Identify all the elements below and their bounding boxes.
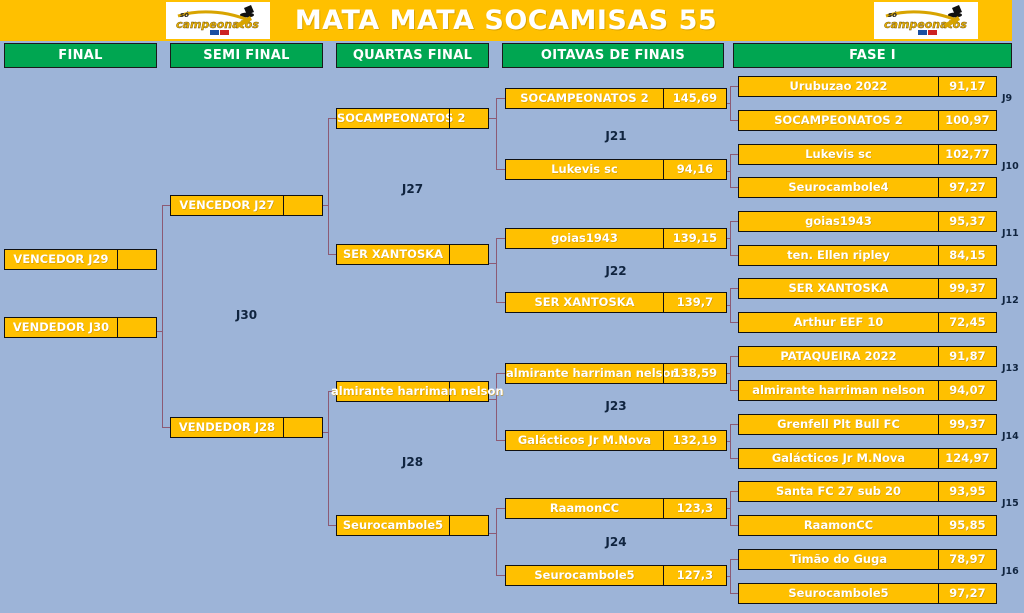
team-name: Seurocambole5 [337, 516, 449, 535]
team-name: SOCAMPEONATOS 2 [506, 89, 663, 108]
team-score: 93,95 [938, 482, 996, 501]
fase1-team-box[interactable]: SER XANTOSKA 99,37 [738, 278, 997, 299]
team-name: almirante harriman nelson [739, 381, 938, 400]
team-name: Timão do Guga [739, 550, 938, 569]
bracket-connector [496, 575, 505, 576]
team-name: PATAQUEIRA 2022 [739, 347, 938, 366]
so-campeonatos-logo-left: só campeonatos [166, 2, 270, 39]
match-id-j14: J14 [1002, 431, 1019, 442]
team-name: RaamonCC [506, 499, 663, 518]
team-name: VENDEDOR J30 [5, 318, 117, 337]
quartas-team-box[interactable]: almirante harriman nelson [336, 381, 489, 402]
bracket-connector [489, 118, 497, 119]
match-id-j23: J23 [505, 399, 727, 413]
team-score: 99,37 [938, 415, 996, 434]
round-tab-final[interactable]: FINAL [4, 43, 157, 68]
team-score: 97,27 [938, 584, 996, 603]
bracket-connector [496, 98, 505, 99]
team-score: 97,27 [938, 178, 996, 197]
bracket-connector [496, 169, 505, 170]
final-team-box[interactable]: VENCEDOR J29 [4, 249, 157, 270]
team-name: SER XANTOSKA [337, 245, 449, 264]
match-id-j12: J12 [1002, 295, 1019, 306]
bracket-connector [496, 238, 497, 303]
bracket-connector [162, 205, 163, 428]
semifinal-team-box[interactable]: VENDEDOR J28 [170, 417, 323, 438]
team-name: VENCEDOR J27 [171, 196, 283, 215]
team-name: Seurocambole4 [739, 178, 938, 197]
match-id-j10: J10 [1002, 161, 1019, 172]
fase1-team-box[interactable]: Santa FC 27 sub 20 93,95 [738, 481, 997, 502]
fase1-team-box[interactable]: PATAQUEIRA 2022 91,87 [738, 346, 997, 367]
team-score [449, 516, 488, 535]
final-team-box[interactable]: VENDEDOR J30 [4, 317, 157, 338]
team-name: SER XANTOSKA [739, 279, 938, 298]
team-name: Galácticos Jr M.Nova [739, 449, 938, 468]
team-name: Santa FC 27 sub 20 [739, 482, 938, 501]
team-score: 102,77 [938, 145, 996, 164]
fase1-team-box[interactable]: Galácticos Jr M.Nova 124,97 [738, 448, 997, 469]
team-name: Lukevis sc [506, 160, 663, 179]
team-name: goias1943 [739, 212, 938, 231]
team-name: almirante harriman nelson [506, 364, 663, 383]
match-id-j9: J9 [1002, 93, 1012, 104]
team-name: VENDEDOR J28 [171, 418, 283, 437]
fase1-team-box[interactable]: Timão do Guga 78,97 [738, 549, 997, 570]
match-id-j22: J22 [505, 264, 727, 278]
bracket-connector [322, 205, 329, 206]
quartas-team-box[interactable]: SOCAMPEONATOS 2 [336, 108, 489, 129]
fase1-team-box[interactable]: Seurocambole4 97,27 [738, 177, 997, 198]
bracket-connector [496, 373, 505, 374]
fase1-team-box[interactable]: ten. Ellen ripley 84,15 [738, 245, 997, 266]
team-score: 138,59 [663, 364, 726, 383]
team-score: 99,37 [938, 279, 996, 298]
match-id-j24: J24 [505, 535, 727, 549]
team-score: 94,07 [938, 381, 996, 400]
team-name: Seurocambole5 [506, 566, 663, 585]
team-score: 72,45 [938, 313, 996, 332]
oitavas-team-box[interactable]: Lukevis sc 94,16 [505, 159, 727, 180]
team-name: almirante harriman nelson [331, 382, 443, 401]
match-id-j15: J15 [1002, 498, 1019, 509]
team-name: SER XANTOSKA [506, 293, 663, 312]
team-score: 95,85 [938, 516, 996, 535]
fase1-team-box[interactable]: almirante harriman nelson 94,07 [738, 380, 997, 401]
oitavas-team-box[interactable]: SOCAMPEONATOS 2 145,69 [505, 88, 727, 109]
team-score: 91,17 [938, 77, 996, 96]
team-score [283, 196, 322, 215]
bracket-connector [489, 263, 497, 264]
fase1-team-box[interactable]: Urubuzao 2022 91,17 [738, 76, 997, 97]
oitavas-team-box[interactable]: almirante harriman nelson 138,59 [505, 363, 727, 384]
bracket-connector [496, 98, 497, 170]
team-score [283, 418, 322, 437]
team-score: 123,3 [663, 499, 726, 518]
team-name: Grenfell Plt Bull FC [739, 415, 938, 434]
match-id-j27: J27 [336, 182, 489, 196]
team-name: Galácticos Jr M.Nova [506, 431, 663, 450]
bracket-connector [328, 118, 329, 255]
fase1-team-box[interactable]: Grenfell Plt Bull FC 99,37 [738, 414, 997, 435]
round-tab-oitavas[interactable]: OITAVAS DE FINAIS [502, 43, 724, 68]
team-score: 95,37 [938, 212, 996, 231]
team-score [449, 109, 488, 128]
team-name: Seurocambole5 [739, 584, 938, 603]
match-id-j11: J11 [1002, 228, 1019, 239]
bracket-connector [496, 238, 505, 239]
oitavas-team-box[interactable]: Galácticos Jr M.Nova 132,19 [505, 430, 727, 451]
team-score [449, 245, 488, 264]
quartas-team-box[interactable]: SER XANTOSKA [336, 244, 489, 265]
team-name: SOCAMPEONATOS 2 [337, 109, 449, 128]
team-score: 84,15 [938, 246, 996, 265]
bracket-page: MATA MATA SOCAMISAS 55 só campeonatos só… [0, 0, 1024, 613]
team-score: 127,3 [663, 566, 726, 585]
oitavas-team-box[interactable]: Seurocambole5 127,3 [505, 565, 727, 586]
page-title: MATA MATA SOCAMISAS 55 [0, 0, 1012, 41]
team-name: Lukevis sc [739, 145, 938, 164]
team-score: 78,97 [938, 550, 996, 569]
fase1-team-box[interactable]: Lukevis sc 102,77 [738, 144, 997, 165]
team-score [117, 250, 156, 269]
team-name: VENCEDOR J29 [5, 250, 117, 269]
team-name: RaamonCC [739, 516, 938, 535]
bracket-connector [496, 508, 505, 509]
fase1-team-box[interactable]: SOCAMPEONATOS 2 100,97 [738, 110, 997, 131]
semifinal-team-box[interactable]: VENCEDOR J27 [170, 195, 323, 216]
team-name: Urubuzao 2022 [739, 77, 938, 96]
bracket-connector [156, 331, 163, 332]
round-tab-fase1[interactable]: FASE I [733, 43, 1012, 68]
bracket-connector [489, 399, 497, 400]
team-score: 91,87 [938, 347, 996, 366]
bracket-connector [496, 508, 497, 576]
oitavas-team-box[interactable]: goias1943 139,15 [505, 228, 727, 249]
fase1-team-box[interactable]: RaamonCC 95,85 [738, 515, 997, 536]
quartas-team-box[interactable]: Seurocambole5 [336, 515, 489, 536]
team-score: 124,97 [938, 449, 996, 468]
team-name: Arthur EEF 10 [739, 313, 938, 332]
match-id-j28: J28 [336, 455, 489, 469]
bracket-connector [489, 533, 497, 534]
bracket-connector [496, 440, 505, 441]
so-campeonatos-logo-right: só campeonatos [874, 2, 978, 39]
team-name: goias1943 [506, 229, 663, 248]
team-name: SOCAMPEONATOS 2 [739, 111, 938, 130]
team-score: 145,69 [663, 89, 726, 108]
bracket-connector [328, 391, 329, 526]
oitavas-team-box[interactable]: RaamonCC 123,3 [505, 498, 727, 519]
title-bar: MATA MATA SOCAMISAS 55 [0, 0, 1024, 41]
fase1-team-box[interactable]: goias1943 95,37 [738, 211, 997, 232]
team-score [117, 318, 156, 337]
match-id-j16: J16 [1002, 566, 1019, 577]
team-score: 139,7 [663, 293, 726, 312]
team-score: 139,15 [663, 229, 726, 248]
bracket-connector [322, 432, 329, 433]
oitavas-team-box[interactable]: SER XANTOSKA 139,7 [505, 292, 727, 313]
team-score: 100,97 [938, 111, 996, 130]
team-score: 132,19 [663, 431, 726, 450]
fase1-team-box[interactable]: Seurocambole5 97,27 [738, 583, 997, 604]
match-id-j30: J30 [170, 308, 323, 322]
team-name: ten. Ellen ripley [739, 246, 938, 265]
round-tab-semifinal[interactable]: SEMI FINAL [170, 43, 323, 68]
match-id-j21: J21 [505, 129, 727, 143]
team-score: 94,16 [663, 160, 726, 179]
bracket-connector [496, 302, 505, 303]
match-id-j13: J13 [1002, 363, 1019, 374]
fase1-team-box[interactable]: Arthur EEF 10 72,45 [738, 312, 997, 333]
round-tab-quartas[interactable]: QUARTAS FINAL [336, 43, 489, 68]
